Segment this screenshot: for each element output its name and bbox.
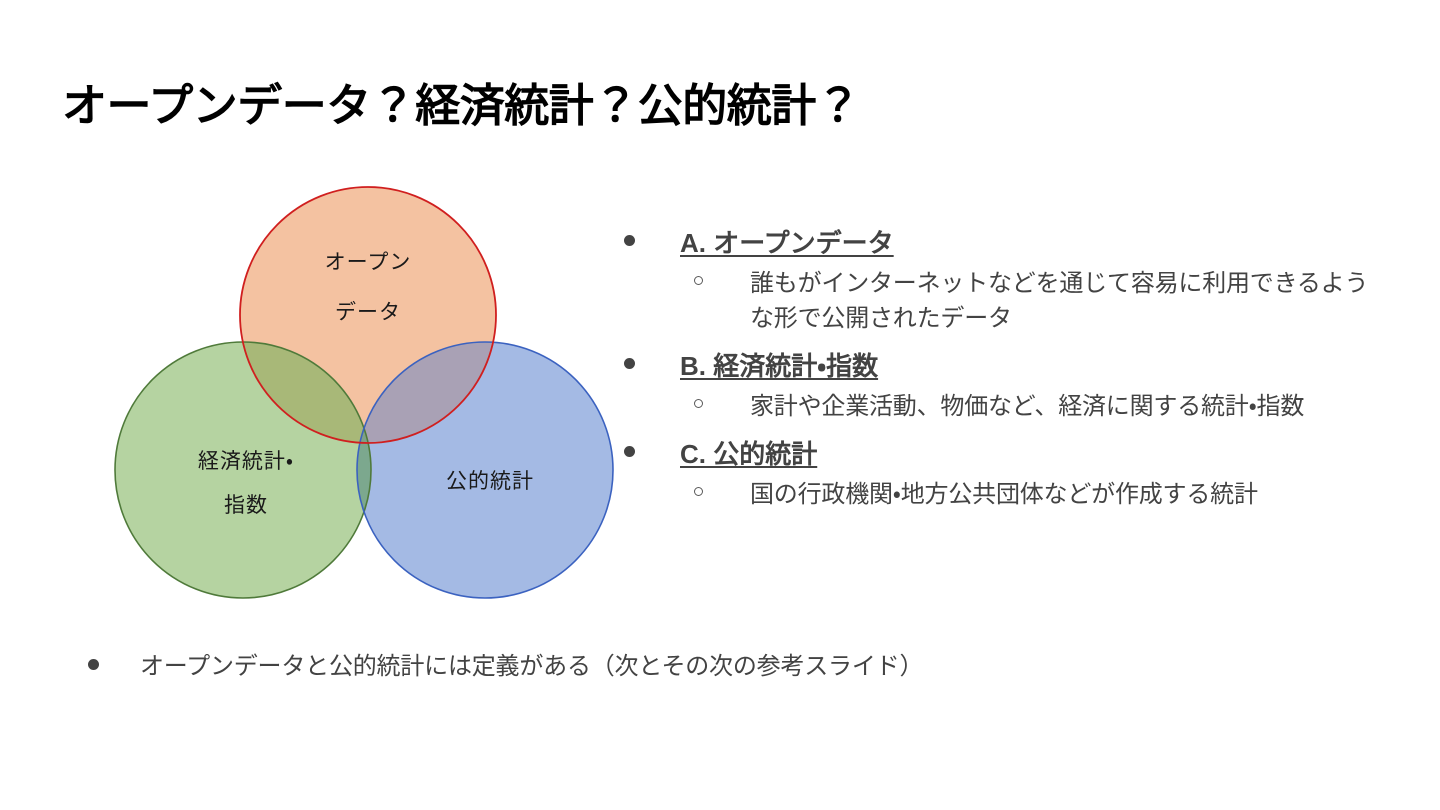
detail-label-a: 誰もがインターネットなどを通じて容易に利用できるような形で公開されたデータ	[750, 266, 1387, 336]
list-item-heading-c: C. 公的統計	[612, 436, 1387, 473]
heading-label-a: A. オープンデータ	[680, 228, 894, 258]
bullet-marker-filled-icon	[88, 659, 99, 670]
bullet-marker-filled-icon	[624, 446, 635, 457]
list-item-detail-a: 誰もがインターネットなどを通じて容易に利用できるような形で公開されたデータ	[612, 266, 1387, 336]
venn-label-official-statistics: 公的統計	[446, 469, 534, 493]
venn-label-economic-statistics-line2: 指数	[224, 493, 268, 517]
heading-label-b: B. 経済統計・指数	[680, 351, 878, 381]
bullet-marker-hollow-icon	[694, 487, 703, 496]
heading-label-c: C. 公的統計	[680, 439, 817, 469]
venn-label-open-data-line1: オープン	[325, 250, 412, 274]
list-item-heading-a: A. オープンデータ	[612, 225, 1387, 262]
bullet-marker-filled-icon	[624, 235, 635, 246]
venn-label-open-data-line2: データ	[335, 300, 401, 324]
bottom-note-label: オープンデータと公的統計には定義がある（次とその次の参考スライド）	[140, 653, 923, 680]
bullet-marker-filled-icon	[624, 358, 635, 369]
definition-list: A. オープンデータ 誰もがインターネットなどを通じて容易に利用できるような形で…	[612, 225, 1387, 524]
bullet-marker-hollow-icon	[694, 276, 703, 285]
page-title: オープンデータ？経済統計？公的統計？	[62, 80, 1382, 132]
bullet-marker-hollow-icon	[694, 399, 703, 408]
bottom-note: オープンデータと公的統計には定義がある（次とその次の参考スライド）	[78, 650, 1420, 684]
venn-svg: オープン データ 経済統計・ 指数 公的統計	[120, 170, 610, 610]
venn-label-economic-statistics-line1: 経済統計・	[198, 449, 294, 473]
list-item-detail-b: 家計や企業活動、物価など、経済に関する統計・指数	[612, 389, 1387, 424]
detail-label-c: 国の行政機関・地方公共団体などが作成する統計	[750, 477, 1387, 512]
slide-canvas: オープンデータ？経済統計？公的統計？	[0, 0, 1440, 810]
list-item-heading-b: B. 経済統計・指数	[612, 348, 1387, 385]
detail-label-b: 家計や企業活動、物価など、経済に関する統計・指数	[750, 389, 1387, 424]
venn-diagram: オープン データ 経済統計・ 指数 公的統計	[120, 170, 610, 610]
list-item-detail-c: 国の行政機関・地方公共団体などが作成する統計	[612, 477, 1387, 512]
